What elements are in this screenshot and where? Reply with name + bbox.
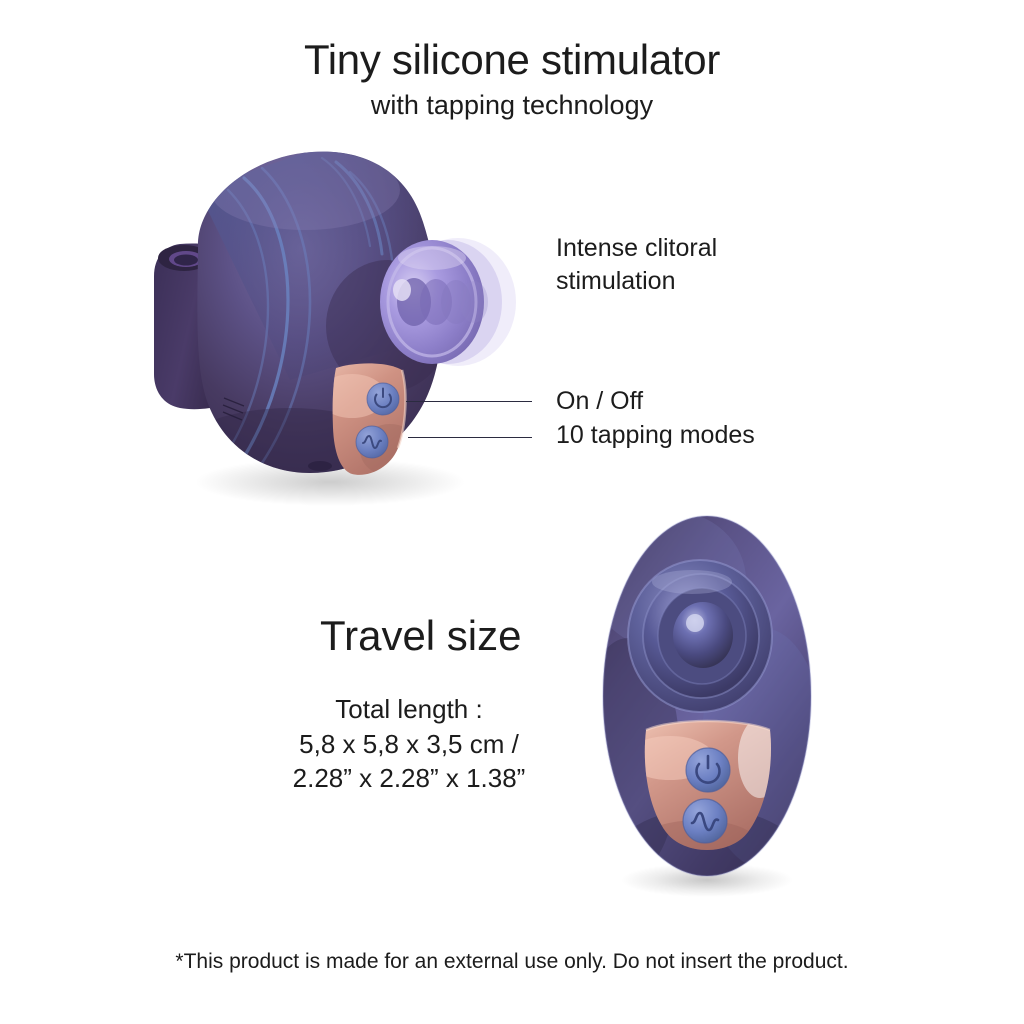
product-image-main-view — [140, 130, 560, 510]
tapping-dome — [628, 560, 772, 712]
infographic-page: Tiny silicone stimulator with tapping te… — [0, 0, 1024, 1024]
product-image-travel-view — [588, 508, 826, 898]
power-button-front[interactable] — [686, 748, 730, 792]
callout-label-on-off: On / Off — [556, 385, 643, 418]
travel-size-heading: Travel size — [320, 612, 522, 660]
mode-button-front[interactable] — [683, 799, 727, 843]
disclaimer-text: *This product is made for an external us… — [0, 950, 1024, 974]
tapping-nozzle — [380, 238, 516, 366]
page-subtitle: with tapping technology — [0, 90, 1024, 121]
page-title: Tiny silicone stimulator — [0, 38, 1024, 82]
callout-label-tapping-modes: 10 tapping modes — [556, 419, 755, 452]
leader-line-on-off — [406, 401, 532, 402]
callout-label-intense-clitoral-stimulation: Intense clitoral stimulation — [556, 232, 717, 298]
power-button[interactable] — [367, 383, 399, 415]
travel-size-dimensions: Total length : 5,8 x 5,8 x 3,5 cm / 2.28… — [244, 692, 574, 796]
leader-line-tapping-modes — [408, 437, 532, 438]
mode-button[interactable] — [356, 426, 388, 458]
charging-port — [308, 461, 332, 471]
